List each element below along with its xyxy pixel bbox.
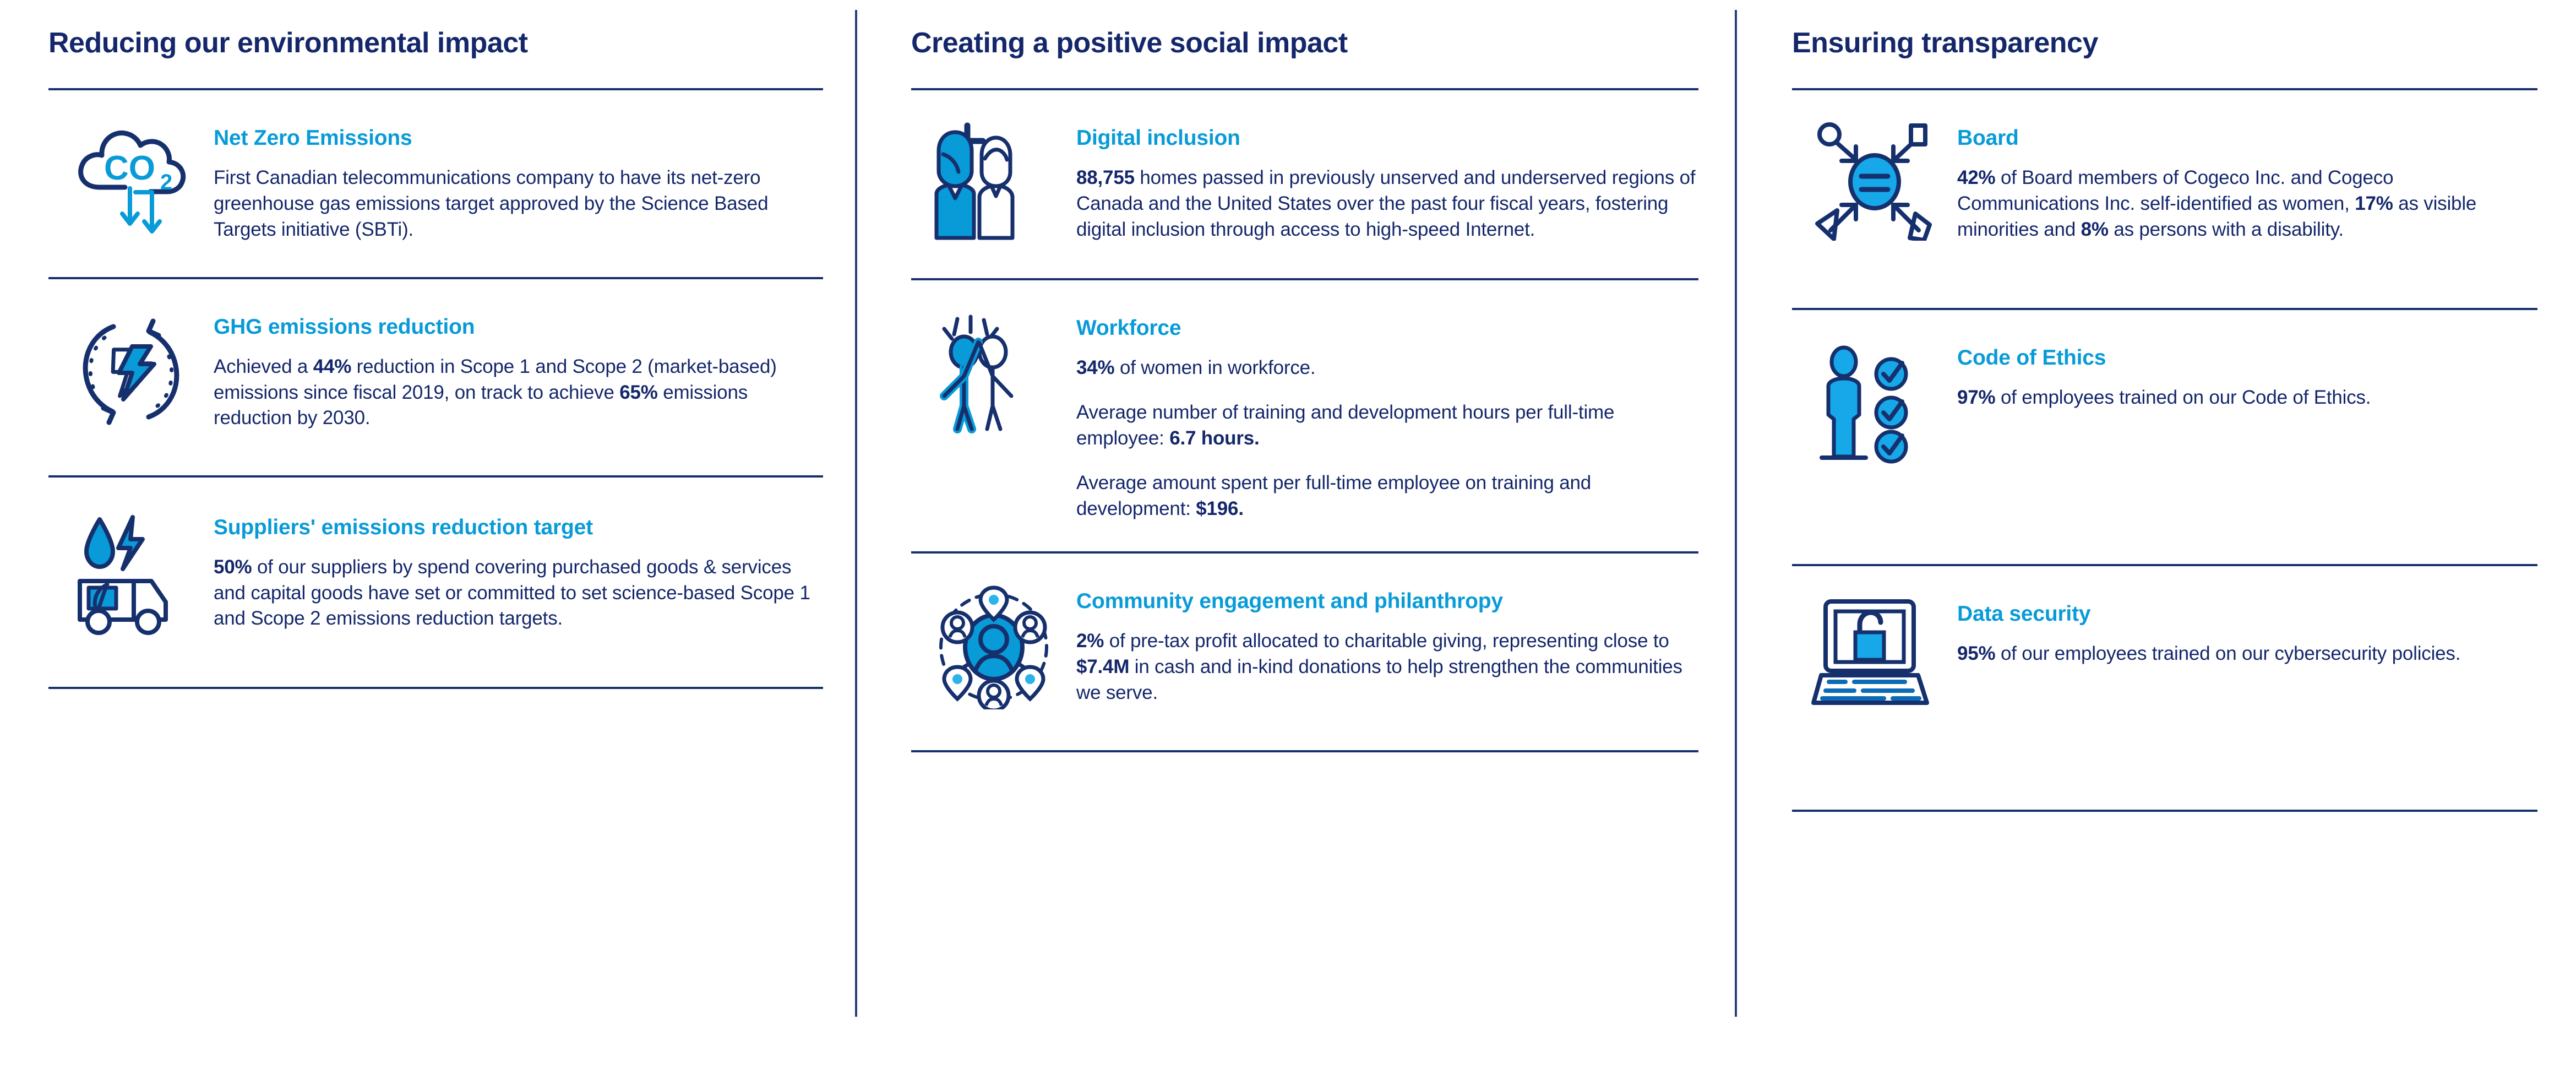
block-ghg-emissions-reduction: GHG emissions reduction Achieved a 44% r… bbox=[48, 311, 823, 432]
column-transparency: Ensuring transparency bbox=[1737, 0, 2576, 1074]
block-title: Data security bbox=[1957, 601, 2537, 627]
delivery-truck-icon bbox=[48, 512, 214, 638]
block-title: Community engagement and philanthropy bbox=[1076, 589, 1698, 614]
block-body: Code of Ethics 97% of employees trained … bbox=[1957, 342, 2537, 411]
block-body: Data security 95% of our employees train… bbox=[1957, 598, 2537, 667]
block-title: Board bbox=[1957, 126, 2537, 151]
block-paragraph: Achieved a 44% reduction in Scope 1 and … bbox=[214, 354, 823, 432]
block-title: Digital inclusion bbox=[1076, 126, 1698, 151]
block-body: Workforce 34% of women in workforce. Ave… bbox=[1076, 312, 1698, 522]
block-title: GHG emissions reduction bbox=[214, 314, 823, 340]
co2-cloud-icon: CO 2 bbox=[48, 122, 214, 238]
block-paragraph: 95% of our employees trained on our cybe… bbox=[1957, 641, 2537, 667]
block-data-security: Data security 95% of our employees train… bbox=[1792, 598, 2537, 708]
block-paragraph: 34% of women in workforce. bbox=[1076, 355, 1698, 381]
laptop-lock-icon bbox=[1792, 598, 1957, 708]
block-paragraph: 42% of Board members of Cogeco Inc. and … bbox=[1957, 165, 2537, 243]
block-title: Net Zero Emissions bbox=[214, 126, 823, 151]
column-environmental: Reducing our environmental impact CO 2 bbox=[0, 0, 856, 1074]
block-body: Community engagement and philanthropy 2%… bbox=[1076, 585, 1698, 706]
section-rule bbox=[48, 88, 823, 90]
block-paragraph: 50% of our suppliers by spend covering p… bbox=[214, 555, 823, 632]
column-heading: Creating a positive social impact bbox=[911, 0, 1698, 59]
community-network-icon bbox=[911, 585, 1076, 709]
block-body: Net Zero Emissions First Canadian teleco… bbox=[214, 122, 823, 243]
two-people-plus-icon bbox=[911, 122, 1076, 246]
block-body: Digital inclusion 88,755 homes passed in… bbox=[1076, 122, 1698, 243]
svg-text:CO: CO bbox=[104, 149, 155, 187]
section-rule bbox=[48, 277, 823, 279]
block-body: Suppliers' emissions reduction target 50… bbox=[214, 512, 823, 632]
block-paragraph: 2% of pre-tax profit allocated to charit… bbox=[1076, 628, 1698, 706]
block-net-zero-emissions: CO 2 Net Zero Emissions First Canadian t… bbox=[48, 122, 823, 243]
block-workforce: Workforce 34% of women in workforce. Ave… bbox=[911, 312, 1698, 522]
svg-text:2: 2 bbox=[160, 170, 172, 194]
section-rule bbox=[1792, 564, 2537, 566]
section-rule bbox=[911, 551, 1698, 554]
section-rule bbox=[48, 687, 823, 689]
block-title: Suppliers' emissions reduction target bbox=[214, 515, 823, 540]
columns-container: Reducing our environmental impact CO 2 bbox=[0, 0, 2576, 1074]
block-paragraph: Average number of training and developme… bbox=[1076, 400, 1698, 452]
block-title: Code of Ethics bbox=[1957, 345, 2537, 371]
column-heading: Ensuring transparency bbox=[1792, 0, 2537, 59]
block-body: GHG emissions reduction Achieved a 44% r… bbox=[214, 311, 823, 432]
block-code-of-ethics: Code of Ethics 97% of employees trained … bbox=[1792, 342, 2537, 466]
block-board: Board 42% of Board members of Cogeco Inc… bbox=[1792, 122, 2537, 243]
section-rule bbox=[911, 278, 1698, 280]
column-heading: Reducing our environmental impact bbox=[48, 0, 823, 59]
high-five-people-icon bbox=[911, 312, 1076, 436]
section-rule bbox=[1792, 810, 2537, 812]
block-paragraph: 88,755 homes passed in previously unserv… bbox=[1076, 165, 1698, 243]
block-paragraph: First Canadian telecommunications compan… bbox=[214, 165, 823, 243]
infographic-page: Reducing our environmental impact CO 2 bbox=[0, 0, 2576, 1074]
block-paragraph: 97% of employees trained on our Code of … bbox=[1957, 385, 2537, 411]
block-suppliers-emissions-target: Suppliers' emissions reduction target 50… bbox=[48, 512, 823, 638]
section-rule bbox=[911, 88, 1698, 90]
section-rule bbox=[48, 475, 823, 478]
column-social: Creating a positive social impact bbox=[856, 0, 1737, 1074]
block-title: Workforce bbox=[1076, 316, 1698, 341]
recycle-bolt-icon bbox=[48, 311, 214, 432]
board-equality-icon bbox=[1792, 122, 1957, 241]
block-paragraph: Average amount spent per full-time emplo… bbox=[1076, 470, 1698, 522]
section-rule bbox=[911, 750, 1698, 752]
section-rule bbox=[1792, 88, 2537, 90]
block-digital-inclusion: Digital inclusion 88,755 homes passed in… bbox=[911, 122, 1698, 246]
section-rule bbox=[1792, 308, 2537, 310]
block-community-engagement: Community engagement and philanthropy 2%… bbox=[911, 585, 1698, 709]
person-checklist-icon bbox=[1792, 342, 1957, 466]
block-body: Board 42% of Board members of Cogeco Inc… bbox=[1957, 122, 2537, 243]
